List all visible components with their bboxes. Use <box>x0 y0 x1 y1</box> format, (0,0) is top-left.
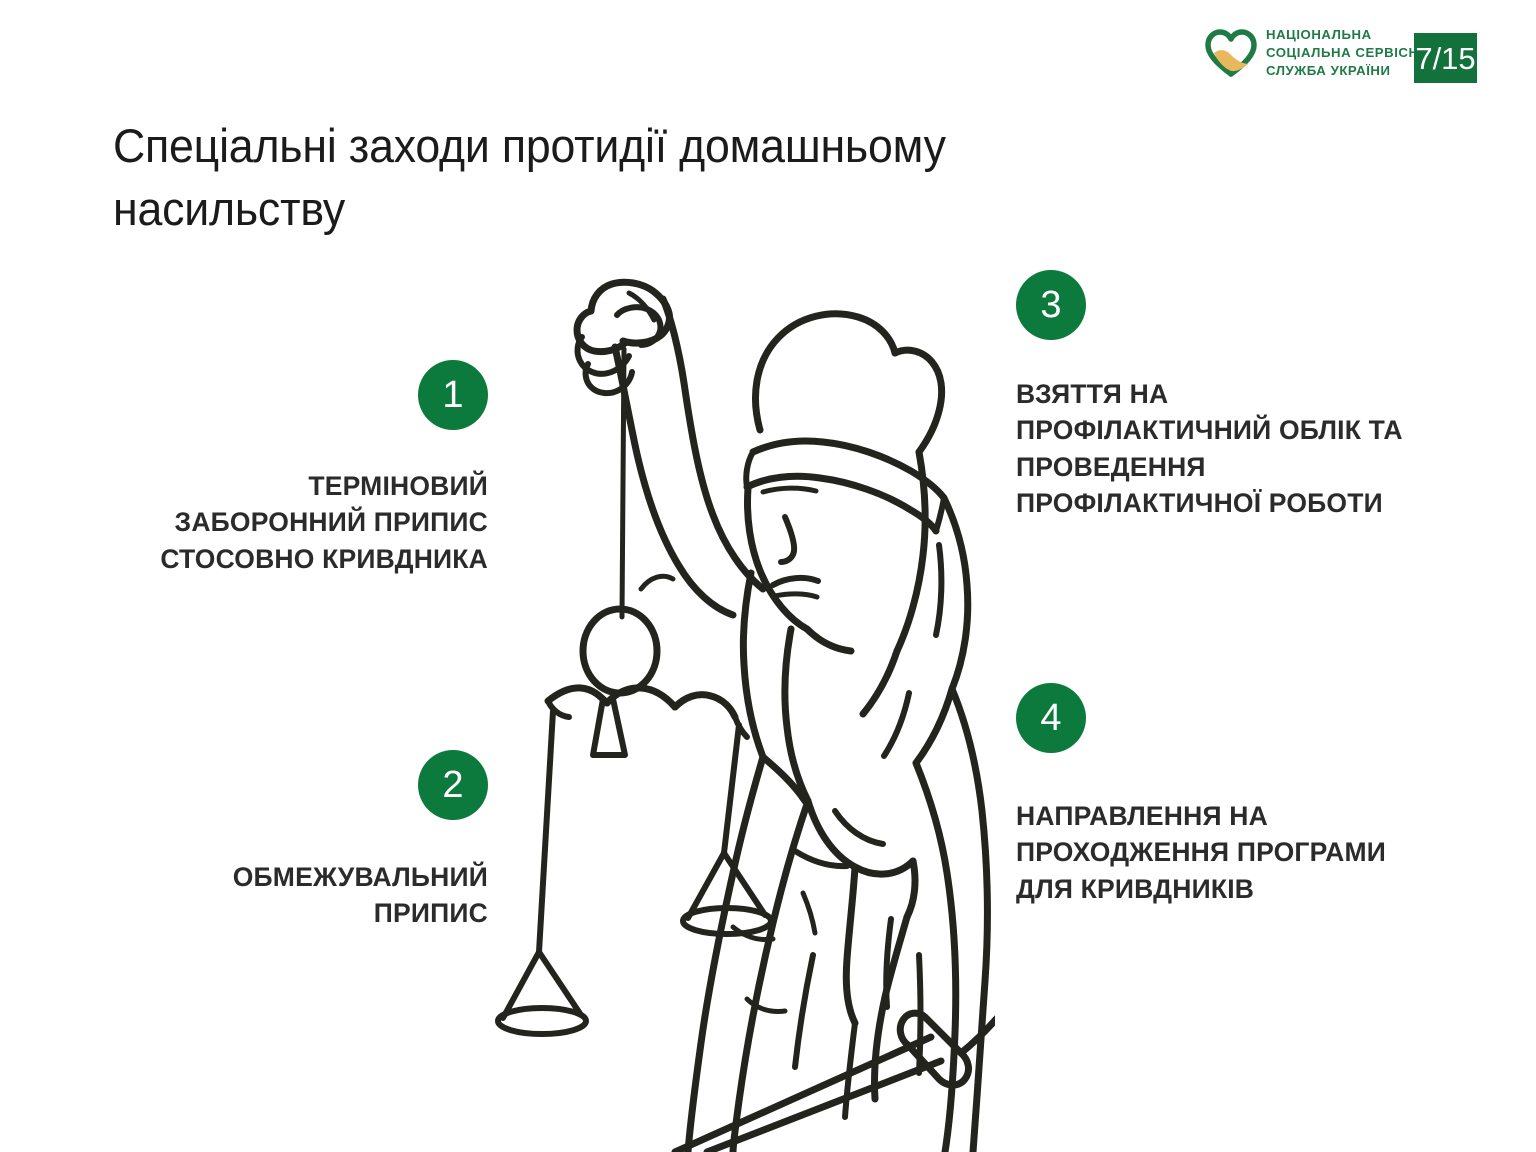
measure-label-1: ТЕРМІНОВИЙ ЗАБОРОННИЙ ПРИПИС СТОСОВНО КР… <box>118 468 488 577</box>
measure-label-3: ВЗЯТТЯ НА ПРОФІЛАКТИЧНИЙ ОБЛІК ТА ПРОВЕД… <box>1016 376 1416 521</box>
measure-number-1: 1 <box>442 376 463 414</box>
measure-item-4: 4 НАПРАВЛЕННЯ НА ПРОХОДЖЕННЯ ПРОГРАМИ ДЛ… <box>1016 683 1416 907</box>
lady-justice-illustration <box>495 255 995 1152</box>
slide-title: Спеціальні заходи протидії домашньому на… <box>113 115 968 239</box>
brand-line-2: СОЦІАЛЬНА СЕРВІСНА <box>1266 45 1429 62</box>
brand-wordmark: НАЦІОНАЛЬНА СОЦІАЛЬНА СЕРВІСНА СЛУЖБА УК… <box>1266 27 1429 80</box>
measure-badge-1: 1 <box>418 360 488 430</box>
measure-number-3: 3 <box>1040 286 1061 324</box>
brand-block: НАЦІОНАЛЬНА СОЦІАЛЬНА СЕРВІСНА СЛУЖБА УК… <box>1205 27 1429 80</box>
brand-line-3: СЛУЖБА УКРАЇНИ <box>1266 63 1429 80</box>
measure-badge-4: 4 <box>1016 683 1086 753</box>
brand-line-1: НАЦІОНАЛЬНА <box>1266 27 1429 44</box>
heart-logo-icon <box>1205 29 1257 77</box>
page-number-badge: 7/15 <box>1414 33 1477 83</box>
measure-item-2: 2 ОБМЕЖУВАЛЬНИЙ ПРИПИС <box>118 750 488 932</box>
measure-badge-3: 3 <box>1016 270 1086 340</box>
measure-number-4: 4 <box>1040 699 1061 737</box>
page-number-text: 7/15 <box>1415 43 1475 74</box>
measure-label-2: ОБМЕЖУВАЛЬНИЙ ПРИПИС <box>118 859 488 932</box>
measure-item-3: 3 ВЗЯТТЯ НА ПРОФІЛАКТИЧНИЙ ОБЛІК ТА ПРОВ… <box>1016 270 1416 521</box>
measure-badge-2: 2 <box>418 750 488 820</box>
measure-number-2: 2 <box>442 766 463 804</box>
measure-item-1: 1 ТЕРМІНОВИЙ ЗАБОРОННИЙ ПРИПИС СТОСОВНО … <box>118 360 488 577</box>
measure-label-4: НАПРАВЛЕННЯ НА ПРОХОДЖЕННЯ ПРОГРАМИ ДЛЯ … <box>1016 798 1416 907</box>
